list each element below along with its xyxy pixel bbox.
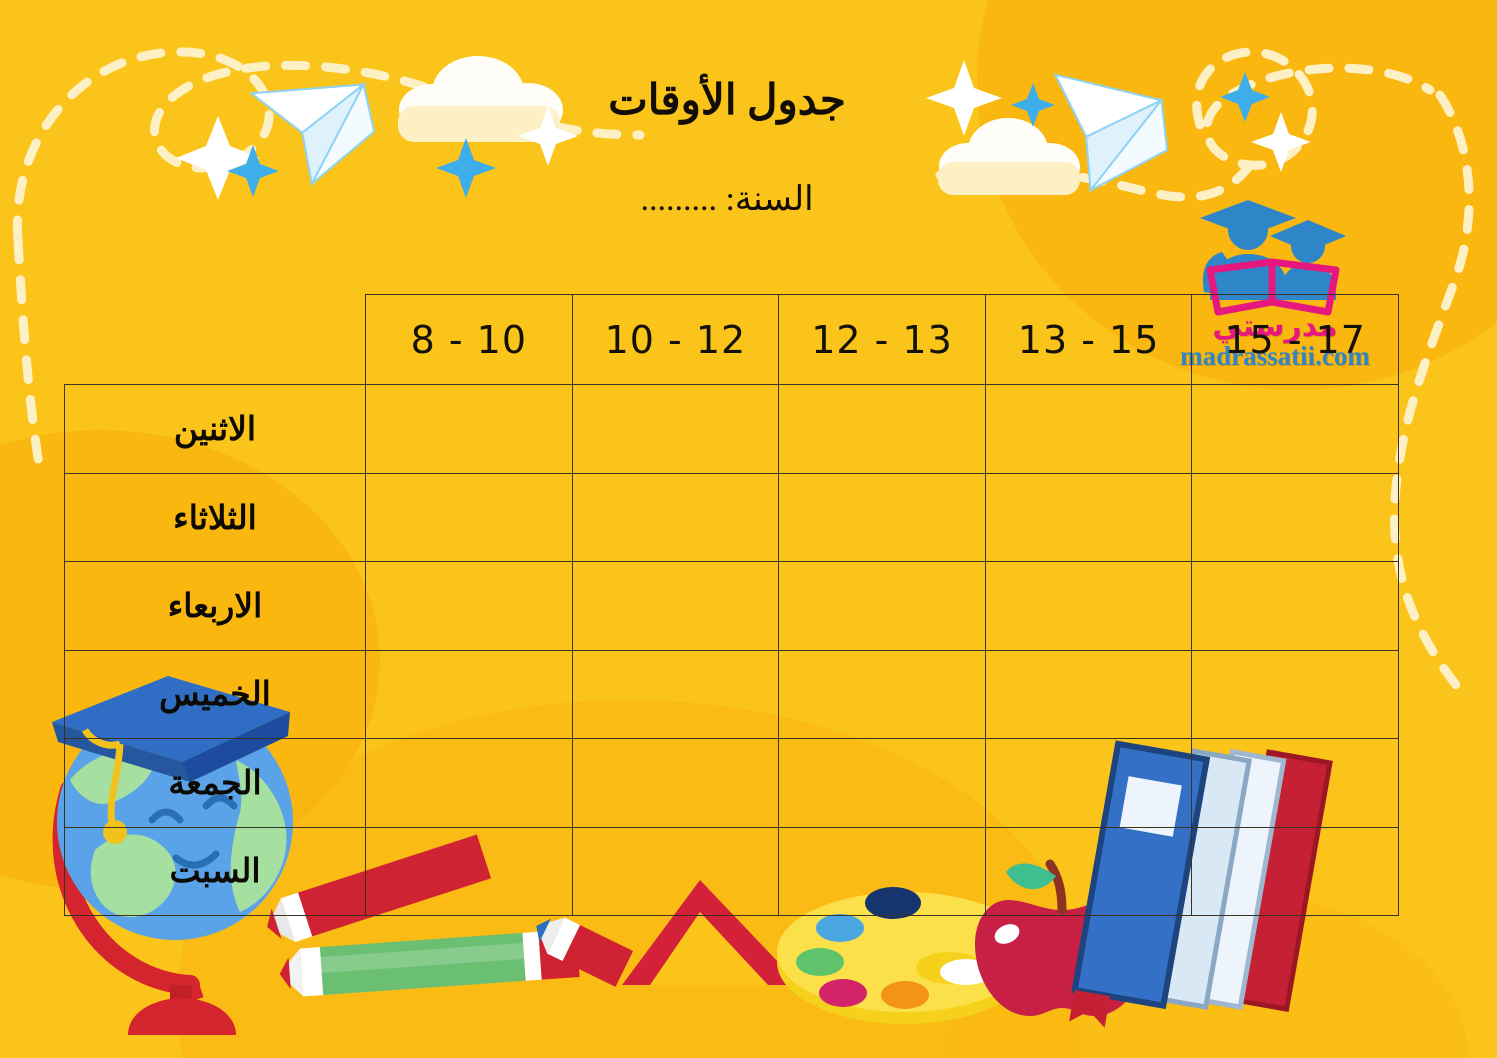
table-row: الاثنين	[65, 385, 1399, 473]
cell-saturday-13-12[interactable]	[779, 827, 986, 915]
time-slot-header-2: 13 - 12	[779, 295, 986, 385]
cell-tuesday-15-13[interactable]	[985, 473, 1192, 561]
cell-thursday-12-10[interactable]	[572, 650, 779, 738]
cell-monday-12-10[interactable]	[572, 385, 779, 473]
table-row: السبت	[65, 827, 1399, 915]
cell-friday-17-15[interactable]	[1192, 739, 1399, 827]
cell-thursday-10-8[interactable]	[366, 650, 573, 738]
day-label-monday: الاثنين	[65, 385, 366, 473]
cell-thursday-13-12[interactable]	[779, 650, 986, 738]
cell-thursday-15-13[interactable]	[985, 650, 1192, 738]
page-title: جدول الأوقات	[517, 78, 937, 124]
time-slot-header-4: 10 - 8	[366, 295, 573, 385]
title-block: جدول الأوقات السنة: .........	[517, 78, 937, 219]
day-label-tuesday: الثلاثاء	[65, 473, 366, 561]
cell-tuesday-17-15[interactable]	[1192, 473, 1399, 561]
paper-plane-icon	[236, 62, 384, 194]
worksheet-page: جدول الأوقات السنة: .........	[0, 0, 1497, 1058]
paper-plane-icon	[1020, 60, 1184, 211]
cell-tuesday-10-8[interactable]	[366, 473, 573, 561]
timetable: 17 - 15 15 - 13 13 - 12 12 - 10 10 - 8	[64, 294, 1399, 916]
day-label-friday: الجمعة	[65, 739, 366, 827]
cell-wednesday-15-13[interactable]	[985, 562, 1192, 650]
time-slot-header-0: 17 - 15	[1192, 295, 1399, 385]
cell-wednesday-10-8[interactable]	[366, 562, 573, 650]
year-field-label: السنة: .........	[517, 179, 937, 219]
pencil-icon	[278, 929, 580, 998]
table-row: الاربعاء	[65, 562, 1399, 650]
cell-wednesday-12-10[interactable]	[572, 562, 779, 650]
cell-friday-13-12[interactable]	[779, 739, 986, 827]
cell-saturday-12-10[interactable]	[572, 827, 779, 915]
table-row: الثلاثاء	[65, 473, 1399, 561]
cloud-icon	[938, 118, 1080, 195]
cell-thursday-17-15[interactable]	[1192, 650, 1399, 738]
cell-wednesday-17-15[interactable]	[1192, 562, 1399, 650]
cell-monday-17-15[interactable]	[1192, 385, 1399, 473]
timetable-header-row: 17 - 15 15 - 13 13 - 12 12 - 10 10 - 8	[65, 295, 1399, 385]
day-label-wednesday: الاربعاء	[65, 562, 366, 650]
day-label-saturday: السبت	[65, 827, 366, 915]
cell-saturday-15-13[interactable]	[985, 827, 1192, 915]
cell-monday-13-12[interactable]	[779, 385, 986, 473]
table-row: الجمعة	[65, 739, 1399, 827]
cell-friday-15-13[interactable]	[985, 739, 1192, 827]
day-column-header	[65, 295, 366, 385]
cell-friday-12-10[interactable]	[572, 739, 779, 827]
day-label-thursday: الخميس	[65, 650, 366, 738]
cell-monday-15-13[interactable]	[985, 385, 1192, 473]
cell-wednesday-13-12[interactable]	[779, 562, 986, 650]
cell-tuesday-13-12[interactable]	[779, 473, 986, 561]
time-slot-header-3: 12 - 10	[572, 295, 779, 385]
time-slot-header-1: 15 - 13	[985, 295, 1192, 385]
cell-tuesday-12-10[interactable]	[572, 473, 779, 561]
cell-saturday-17-15[interactable]	[1192, 827, 1399, 915]
triangle-ruler-icon	[570, 905, 762, 1000]
cell-friday-10-8[interactable]	[366, 739, 573, 827]
pencil-icon	[527, 908, 633, 987]
cell-monday-10-8[interactable]	[366, 385, 573, 473]
cell-saturday-10-8[interactable]	[366, 827, 573, 915]
table-row: الخميس	[65, 650, 1399, 738]
